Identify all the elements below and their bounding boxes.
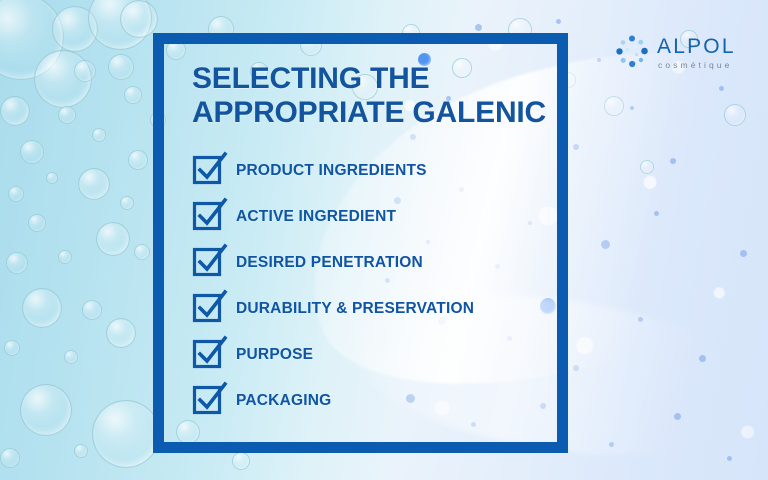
checkbox-checked-icon[interactable] (192, 247, 224, 279)
poster-canvas: SELECTING THE APPROPRIATE GALENIC PRODUC… (0, 0, 768, 480)
brand-logo-text: ALPOL cosmétique (657, 36, 736, 71)
checklist: PRODUCT INGREDIENTS ACTIVE INGREDIENT DE… (192, 148, 552, 424)
brand-logo[interactable]: ALPOL cosmétique (611, 30, 756, 76)
checkbox-checked-icon[interactable] (192, 155, 224, 187)
page-title: SELECTING THE APPROPRIATE GALENIC (192, 62, 562, 130)
checklist-item-packaging[interactable]: PACKAGING (192, 378, 552, 424)
checklist-item-label: ACTIVE INGREDIENT (236, 208, 396, 226)
alpol-molecule-dots-icon (611, 32, 653, 74)
checklist-item-label: DURABILITY & PRESERVATION (236, 300, 474, 318)
checklist-item-purpose[interactable]: PURPOSE (192, 332, 552, 378)
brand-tagline: cosmétique (658, 59, 736, 71)
checkbox-checked-icon[interactable] (192, 201, 224, 233)
checklist-item-label: PRODUCT INGREDIENTS (236, 162, 427, 180)
checkbox-checked-icon[interactable] (192, 385, 224, 417)
checklist-item-label: DESIRED PENETRATION (236, 254, 423, 272)
checklist-item-durability-preservation[interactable]: DURABILITY & PRESERVATION (192, 286, 552, 332)
checklist-item-desired-penetration[interactable]: DESIRED PENETRATION (192, 240, 552, 286)
checklist-item-label: PACKAGING (236, 392, 331, 410)
checklist-item-label: PURPOSE (236, 346, 313, 364)
brand-name: ALPOL (657, 36, 736, 57)
checkbox-checked-icon[interactable] (192, 339, 224, 371)
checklist-item-product-ingredients[interactable]: PRODUCT INGREDIENTS (192, 148, 552, 194)
checklist-item-active-ingredient[interactable]: ACTIVE INGREDIENT (192, 194, 552, 240)
checkbox-checked-icon[interactable] (192, 293, 224, 325)
